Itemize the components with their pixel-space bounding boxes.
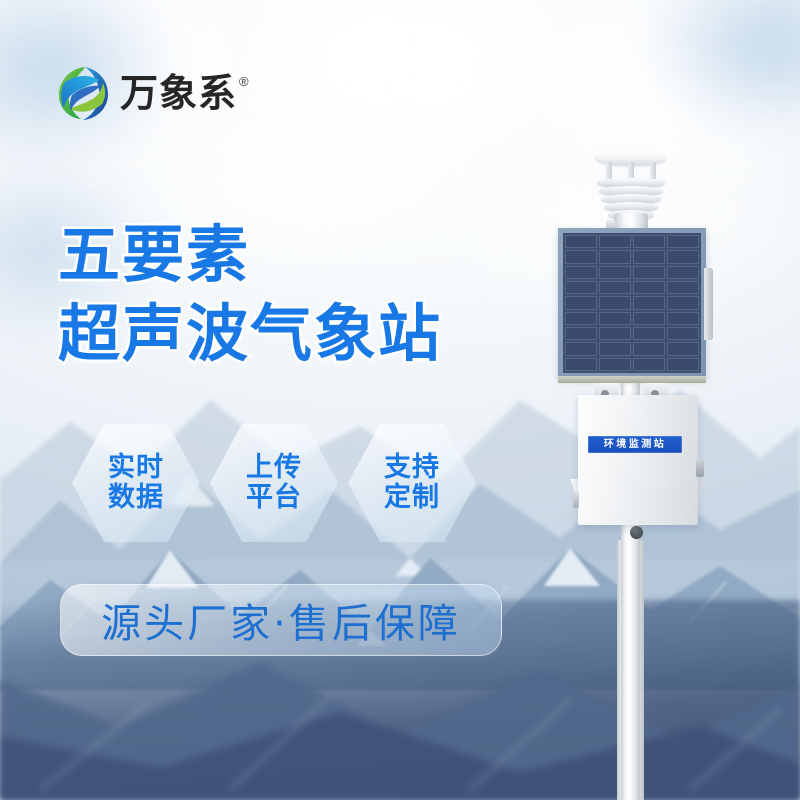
- solar-cell: [667, 312, 699, 325]
- enclosure-latch-right-icon: [696, 459, 704, 477]
- feature-badge-label: 支持 定制: [384, 453, 440, 513]
- guarantee-banner-text: 源头厂家·售后保障: [101, 591, 461, 649]
- solar-panel-side-bracket-icon: [704, 268, 713, 340]
- badge-line-2: 数据: [108, 483, 164, 513]
- solar-cell: [633, 358, 665, 371]
- enclosure-cable-gland-icon: [630, 526, 643, 539]
- badge-line-1: 支持: [384, 453, 440, 483]
- solar-cell: [565, 281, 597, 294]
- solar-cell: [667, 358, 699, 371]
- solar-cell: [633, 250, 665, 263]
- solar-cell: [667, 266, 699, 279]
- solar-cell: [565, 327, 597, 340]
- solar-cell: [565, 312, 597, 325]
- feature-badge[interactable]: 实时 数据: [72, 424, 200, 542]
- solar-cell: [599, 296, 631, 309]
- solar-cell: [667, 342, 699, 355]
- solar-cell: [633, 235, 665, 248]
- badge-line-1: 实时: [108, 453, 164, 483]
- solar-cell: [667, 296, 699, 309]
- solar-cell: [565, 235, 597, 248]
- headline-line-2: 超声波气象站: [58, 301, 442, 368]
- solar-cell: [633, 266, 665, 279]
- badge-line-2: 定制: [384, 483, 440, 513]
- solar-cell: [667, 281, 699, 294]
- enclosure-label-text: 环境监测站: [604, 440, 667, 450]
- guarantee-banner[interactable]: 源头厂家·售后保障: [60, 584, 502, 656]
- badge-line-1: 上传: [246, 453, 302, 483]
- solar-cell: [599, 358, 631, 371]
- badge-line-2: 平台: [246, 483, 302, 513]
- solar-panel-base-icon: [558, 376, 706, 383]
- solar-cell: [599, 235, 631, 248]
- enclosure-label: 环境监测站: [588, 436, 682, 453]
- solar-cell: [667, 235, 699, 248]
- solar-cell: [633, 296, 665, 309]
- solar-cell: [633, 342, 665, 355]
- solar-cell: [599, 342, 631, 355]
- enclosure-body-icon: [578, 395, 698, 525]
- solar-cell: [633, 327, 665, 340]
- feature-badge-list: 实时 数据 上传 平台 支持 定制: [72, 424, 476, 542]
- solar-cell: [599, 281, 631, 294]
- enclosure-box: 环境监测站: [570, 395, 705, 538]
- product-image: 环境监测站: [520, 140, 780, 800]
- solar-cell: [667, 250, 699, 263]
- solar-cell: [599, 327, 631, 340]
- solar-cell: [565, 266, 597, 279]
- registered-mark-icon: ®: [239, 75, 249, 88]
- feature-badge-label: 实时 数据: [108, 453, 164, 513]
- solar-cell: [599, 312, 631, 325]
- enclosure-latch-left-icon: [573, 491, 579, 508]
- solar-cell: [565, 250, 597, 263]
- feature-badge-label: 上传 平台: [246, 453, 302, 513]
- solar-cell: [633, 281, 665, 294]
- page-title: 五要素 超声波气象站: [58, 222, 442, 368]
- solar-panel-icon: [558, 228, 706, 378]
- feature-badge[interactable]: 上传 平台: [210, 424, 338, 542]
- solar-cell: [565, 358, 597, 371]
- solar-cell-grid: [563, 233, 701, 373]
- brand-logo[interactable]: 万象系 ®: [55, 64, 249, 122]
- solar-cell: [599, 266, 631, 279]
- solar-cell: [599, 250, 631, 263]
- sensor-pillars-icon: [604, 162, 658, 179]
- solar-cell: [667, 327, 699, 340]
- solar-cell: [633, 312, 665, 325]
- feature-badge[interactable]: 支持 定制: [348, 424, 476, 542]
- solar-cell: [565, 296, 597, 309]
- product-banner: 万象系 ® 五要素 超声波气象站 实时 数据 上传 平台 支持 定制: [0, 0, 800, 800]
- brand-name: 万象系: [120, 74, 237, 113]
- headline-line-1: 五要素: [58, 222, 442, 289]
- solar-cell: [565, 342, 597, 355]
- globe-swirl-logo-icon: [55, 64, 111, 122]
